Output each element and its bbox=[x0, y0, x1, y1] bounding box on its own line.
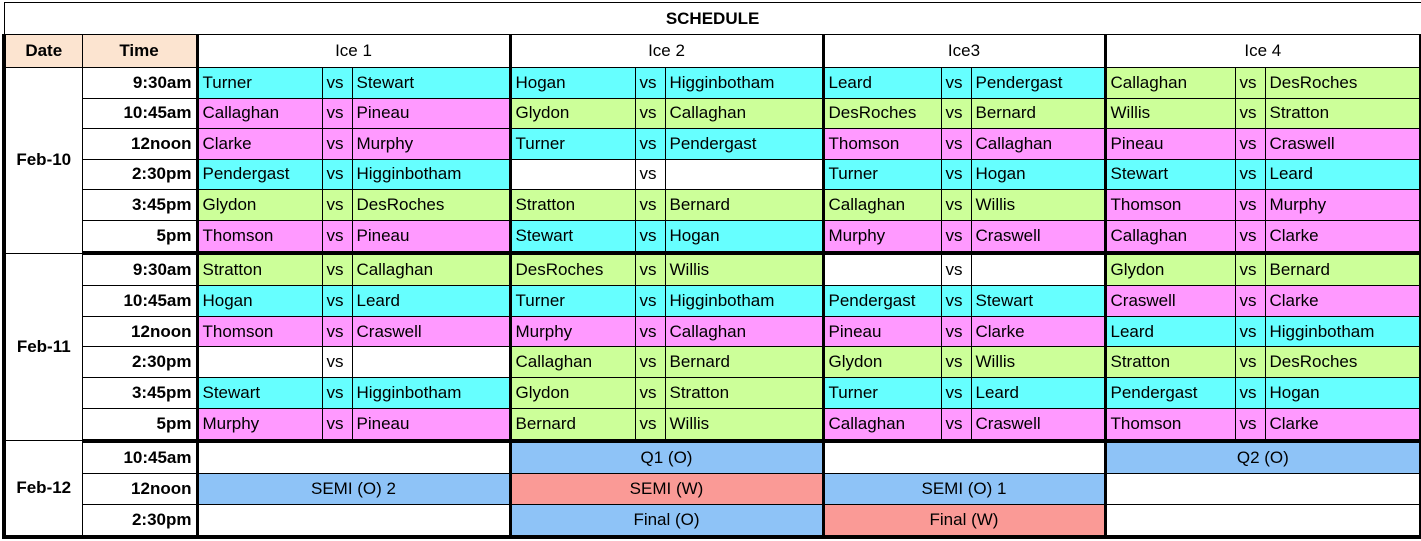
team-away[interactable]: Hogan bbox=[665, 220, 823, 253]
time-cell: 3:45pm bbox=[82, 378, 197, 409]
team-away[interactable]: Willis bbox=[971, 347, 1105, 378]
vs-label: vs bbox=[322, 98, 352, 129]
team-home[interactable]: Murphy bbox=[510, 316, 635, 347]
playoff-slot[interactable]: SEMI (W) bbox=[510, 474, 823, 505]
team-away[interactable]: Craswell bbox=[971, 220, 1105, 253]
team-home[interactable]: Callaghan bbox=[510, 347, 635, 378]
time-cell: 9:30am bbox=[82, 68, 197, 99]
team-away[interactable]: Murphy bbox=[352, 129, 510, 160]
team-home[interactable]: Turner bbox=[823, 159, 941, 190]
vs-label: vs bbox=[635, 129, 665, 160]
vs-label: vs bbox=[941, 220, 971, 253]
time-cell: 5pm bbox=[82, 408, 197, 441]
team-home[interactable]: Thomson bbox=[1105, 408, 1235, 441]
vs-label: vs bbox=[635, 253, 665, 286]
team-home[interactable]: Willis bbox=[1105, 98, 1235, 129]
vs-label: vs bbox=[941, 253, 971, 286]
schedule-row: 3:45pmStewartvsHigginbothamGlydonvsStrat… bbox=[4, 378, 1421, 409]
playoff-row: Feb-1210:45amQ1 (O)Q2 (O) bbox=[4, 441, 1421, 474]
team-home[interactable]: Leard bbox=[823, 68, 941, 99]
team-away[interactable]: Clarke bbox=[971, 316, 1105, 347]
vs-label: vs bbox=[941, 378, 971, 409]
team-home[interactable]: Callaghan bbox=[1105, 220, 1235, 253]
schedule-row: 10:45amHoganvsLeardTurnervsHigginbothamP… bbox=[4, 286, 1421, 317]
time-cell: 9:30am bbox=[82, 253, 197, 286]
team-home[interactable]: Glydon bbox=[197, 190, 322, 221]
team-away[interactable]: Bernard bbox=[665, 190, 823, 221]
team-away[interactable]: Clarke bbox=[1265, 286, 1421, 317]
vs-label: vs bbox=[1235, 378, 1265, 409]
team-home[interactable]: Turner bbox=[823, 378, 941, 409]
team-home[interactable]: Thomson bbox=[1105, 190, 1235, 221]
vs-label: vs bbox=[635, 378, 665, 409]
playoff-slot[interactable]: SEMI (O) 2 bbox=[197, 474, 510, 505]
team-away[interactable]: Pineau bbox=[352, 98, 510, 129]
vs-label: vs bbox=[1235, 220, 1265, 253]
vs-label: vs bbox=[941, 286, 971, 317]
team-away[interactable]: Pineau bbox=[352, 220, 510, 253]
team-away[interactable]: Pendergast bbox=[665, 129, 823, 160]
time-cell: 2:30pm bbox=[82, 347, 197, 378]
team-away[interactable]: Willis bbox=[665, 253, 823, 286]
team-away[interactable]: Hogan bbox=[971, 159, 1105, 190]
team-home[interactable]: Callaghan bbox=[1105, 68, 1235, 99]
team-away[interactable] bbox=[352, 347, 510, 378]
date-cell: Feb-10 bbox=[4, 68, 82, 254]
team-away[interactable]: Stewart bbox=[352, 68, 510, 99]
vs-label: vs bbox=[941, 190, 971, 221]
team-home[interactable]: Murphy bbox=[197, 408, 322, 441]
vs-label: vs bbox=[941, 408, 971, 441]
column-header-row: DateTimeIce 1Ice 2Ice3Ice 4 bbox=[4, 35, 1421, 68]
team-away[interactable]: Callaghan bbox=[352, 253, 510, 286]
playoff-slot[interactable] bbox=[823, 441, 1105, 474]
header-date: Date bbox=[4, 35, 82, 68]
vs-label: vs bbox=[1235, 408, 1265, 441]
team-away[interactable] bbox=[971, 253, 1105, 286]
team-home[interactable]: Stewart bbox=[197, 378, 322, 409]
date-cell: Feb-12 bbox=[4, 441, 82, 537]
team-away[interactable]: Murphy bbox=[1265, 190, 1421, 221]
team-away[interactable]: Pendergast bbox=[971, 68, 1105, 99]
team-home[interactable]: Glydon bbox=[510, 98, 635, 129]
team-away[interactable]: Willis bbox=[971, 190, 1105, 221]
team-away[interactable]: Leard bbox=[971, 378, 1105, 409]
team-home[interactable]: Turner bbox=[510, 286, 635, 317]
time-cell: 12noon bbox=[82, 316, 197, 347]
time-cell: 2:30pm bbox=[82, 504, 197, 537]
time-cell: 3:45pm bbox=[82, 190, 197, 221]
team-home[interactable]: Glydon bbox=[823, 347, 941, 378]
vs-label: vs bbox=[1235, 347, 1265, 378]
schedule-row: Feb-109:30amTurnervsStewartHoganvsHiggin… bbox=[4, 68, 1421, 99]
vs-label: vs bbox=[941, 68, 971, 99]
vs-label: vs bbox=[941, 159, 971, 190]
team-home[interactable]: Thomson bbox=[197, 220, 322, 253]
vs-label: vs bbox=[635, 408, 665, 441]
time-cell: 10:45am bbox=[82, 441, 197, 474]
vs-label: vs bbox=[635, 316, 665, 347]
team-away[interactable]: Hogan bbox=[1265, 378, 1421, 409]
team-away[interactable]: Bernard bbox=[1265, 253, 1421, 286]
team-home[interactable]: DesRoches bbox=[823, 98, 941, 129]
team-home[interactable]: Callaghan bbox=[823, 408, 941, 441]
team-away[interactable]: Willis bbox=[665, 408, 823, 441]
playoff-row: 12noonSEMI (O) 2SEMI (W)SEMI (O) 1 bbox=[4, 474, 1421, 505]
vs-label: vs bbox=[322, 159, 352, 190]
team-home[interactable]: Clarke bbox=[197, 129, 322, 160]
header-time: Time bbox=[82, 35, 197, 68]
schedule-row: 3:45pmGlydonvsDesRochesStrattonvsBernard… bbox=[4, 190, 1421, 221]
team-away[interactable]: Clarke bbox=[1265, 220, 1421, 253]
vs-label: vs bbox=[1235, 190, 1265, 221]
team-home[interactable]: Stewart bbox=[1105, 159, 1235, 190]
playoff-slot[interactable]: Q2 (O) bbox=[1105, 441, 1421, 474]
team-home[interactable] bbox=[510, 159, 635, 190]
time-cell: 2:30pm bbox=[82, 159, 197, 190]
team-home[interactable] bbox=[823, 253, 941, 286]
vs-label: vs bbox=[322, 286, 352, 317]
team-away[interactable]: Craswell bbox=[971, 408, 1105, 441]
team-away[interactable]: Higginbotham bbox=[665, 68, 823, 99]
vs-label: vs bbox=[941, 347, 971, 378]
team-home[interactable]: Glydon bbox=[510, 378, 635, 409]
vs-label: vs bbox=[941, 316, 971, 347]
team-away[interactable]: Craswell bbox=[1265, 129, 1421, 160]
vs-label: vs bbox=[1235, 316, 1265, 347]
time-cell: 12noon bbox=[82, 474, 197, 505]
team-away[interactable]: Stratton bbox=[1265, 98, 1421, 129]
team-home[interactable]: Stewart bbox=[510, 220, 635, 253]
team-away[interactable]: Higginbotham bbox=[352, 378, 510, 409]
schedule-table: SCHEDULEDateTimeIce 1Ice 2Ice3Ice 4Feb-1… bbox=[2, 2, 1421, 539]
team-home[interactable]: Stratton bbox=[197, 253, 322, 286]
header-ice-4: Ice 4 bbox=[1105, 35, 1421, 68]
title-row: SCHEDULE bbox=[4, 3, 1421, 35]
team-home[interactable]: Craswell bbox=[1105, 286, 1235, 317]
vs-label: vs bbox=[322, 220, 352, 253]
team-home[interactable] bbox=[197, 347, 322, 378]
vs-label: vs bbox=[635, 98, 665, 129]
team-home[interactable]: Bernard bbox=[510, 408, 635, 441]
team-home[interactable]: Pineau bbox=[1105, 129, 1235, 160]
team-home[interactable]: Pendergast bbox=[197, 159, 322, 190]
team-home[interactable]: Pendergast bbox=[823, 286, 941, 317]
team-away[interactable]: Stratton bbox=[665, 378, 823, 409]
team-home[interactable]: Turner bbox=[197, 68, 322, 99]
team-home[interactable]: Pendergast bbox=[1105, 378, 1235, 409]
playoff-slot[interactable] bbox=[1105, 504, 1421, 537]
playoff-slot[interactable]: SEMI (O) 1 bbox=[823, 474, 1105, 505]
vs-label: vs bbox=[1235, 68, 1265, 99]
team-away[interactable]: Callaghan bbox=[971, 129, 1105, 160]
team-away[interactable]: Bernard bbox=[665, 347, 823, 378]
vs-label: vs bbox=[322, 347, 352, 378]
team-away[interactable] bbox=[665, 159, 823, 190]
team-away[interactable]: Stewart bbox=[971, 286, 1105, 317]
schedule-row: 12noonClarkevsMurphyTurnervsPendergastTh… bbox=[4, 129, 1421, 160]
vs-label: vs bbox=[322, 253, 352, 286]
vs-label: vs bbox=[635, 190, 665, 221]
team-home[interactable]: Glydon bbox=[1105, 253, 1235, 286]
team-home[interactable]: Callaghan bbox=[197, 98, 322, 129]
playoff-slot[interactable]: Final (O) bbox=[510, 504, 823, 537]
time-cell: 5pm bbox=[82, 220, 197, 253]
date-cell: Feb-11 bbox=[4, 253, 82, 441]
team-away[interactable]: Callaghan bbox=[665, 98, 823, 129]
team-home[interactable]: DesRoches bbox=[510, 253, 635, 286]
playoff-slot[interactable]: Final (W) bbox=[823, 504, 1105, 537]
vs-label: vs bbox=[941, 129, 971, 160]
team-away[interactable]: DesRoches bbox=[352, 190, 510, 221]
team-home[interactable]: Hogan bbox=[197, 286, 322, 317]
vs-label: vs bbox=[322, 129, 352, 160]
team-away[interactable]: Higginbotham bbox=[665, 286, 823, 317]
page-title: SCHEDULE bbox=[4, 3, 1421, 35]
playoff-slot[interactable] bbox=[1105, 474, 1421, 505]
team-away[interactable]: Bernard bbox=[971, 98, 1105, 129]
vs-label: vs bbox=[322, 378, 352, 409]
team-home[interactable]: Thomson bbox=[823, 129, 941, 160]
header-ice-1: Ice 1 bbox=[197, 35, 510, 68]
team-home[interactable]: Murphy bbox=[823, 220, 941, 253]
vs-label: vs bbox=[635, 68, 665, 99]
team-home[interactable]: Stratton bbox=[510, 190, 635, 221]
team-home[interactable]: Thomson bbox=[197, 316, 322, 347]
schedule-row: 10:45amCallaghanvsPineauGlydonvsCallagha… bbox=[4, 98, 1421, 129]
team-away[interactable]: Higginbotham bbox=[1265, 316, 1421, 347]
vs-label: vs bbox=[635, 286, 665, 317]
team-away[interactable]: Craswell bbox=[352, 316, 510, 347]
vs-label: vs bbox=[635, 347, 665, 378]
vs-label: vs bbox=[1235, 98, 1265, 129]
vs-label: vs bbox=[322, 316, 352, 347]
vs-label: vs bbox=[635, 220, 665, 253]
team-home[interactable]: Turner bbox=[510, 129, 635, 160]
schedule-row: 5pmThomsonvsPineauStewartvsHoganMurphyvs… bbox=[4, 220, 1421, 253]
vs-label: vs bbox=[1235, 253, 1265, 286]
time-cell: 10:45am bbox=[82, 286, 197, 317]
playoff-slot[interactable] bbox=[197, 504, 510, 537]
vs-label: vs bbox=[1235, 286, 1265, 317]
schedule-row: 12noonThomsonvsCraswellMurphyvsCallaghan… bbox=[4, 316, 1421, 347]
playoff-slot[interactable] bbox=[197, 441, 510, 474]
header-ice-3: Ice3 bbox=[823, 35, 1105, 68]
vs-label: vs bbox=[322, 68, 352, 99]
team-home[interactable]: Pineau bbox=[823, 316, 941, 347]
schedule-document: SCHEDULEDateTimeIce 1Ice 2Ice3Ice 4Feb-1… bbox=[0, 0, 1421, 541]
team-away[interactable]: DesRoches bbox=[1265, 347, 1421, 378]
playoff-slot[interactable]: Q1 (O) bbox=[510, 441, 823, 474]
time-cell: 12noon bbox=[82, 129, 197, 160]
schedule-row: 2:30pmPendergastvsHigginbothamvsTurnervs… bbox=[4, 159, 1421, 190]
header-ice-2: Ice 2 bbox=[510, 35, 823, 68]
team-away[interactable]: DesRoches bbox=[1265, 68, 1421, 99]
team-home[interactable]: Callaghan bbox=[823, 190, 941, 221]
schedule-row: 5pmMurphyvsPineauBernardvsWillisCallagha… bbox=[4, 408, 1421, 441]
team-home[interactable]: Leard bbox=[1105, 316, 1235, 347]
schedule-row: 2:30pmvsCallaghanvsBernardGlydonvsWillis… bbox=[4, 347, 1421, 378]
playoff-row: 2:30pmFinal (O)Final (W) bbox=[4, 504, 1421, 537]
team-away[interactable]: Callaghan bbox=[665, 316, 823, 347]
team-away[interactable]: Pineau bbox=[352, 408, 510, 441]
team-away[interactable]: Clarke bbox=[1265, 408, 1421, 441]
vs-label: vs bbox=[635, 159, 665, 190]
time-cell: 10:45am bbox=[82, 98, 197, 129]
vs-label: vs bbox=[1235, 129, 1265, 160]
vs-label: vs bbox=[322, 190, 352, 221]
team-home[interactable]: Stratton bbox=[1105, 347, 1235, 378]
vs-label: vs bbox=[941, 98, 971, 129]
team-away[interactable]: Higginbotham bbox=[352, 159, 510, 190]
team-away[interactable]: Leard bbox=[1265, 159, 1421, 190]
team-home[interactable]: Hogan bbox=[510, 68, 635, 99]
team-away[interactable]: Leard bbox=[352, 286, 510, 317]
schedule-row: Feb-119:30amStrattonvsCallaghanDesRoches… bbox=[4, 253, 1421, 286]
vs-label: vs bbox=[322, 408, 352, 441]
vs-label: vs bbox=[1235, 159, 1265, 190]
